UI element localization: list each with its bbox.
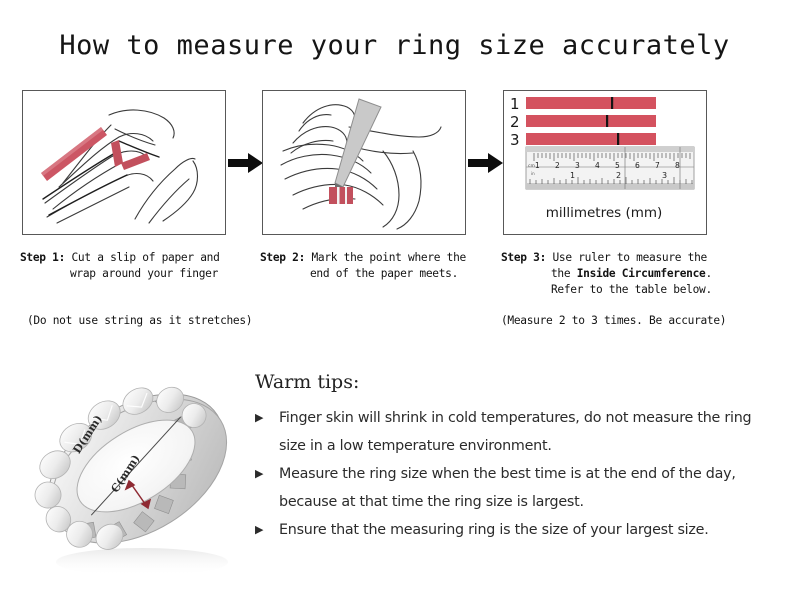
measured-strip-row: 2 bbox=[510, 113, 656, 131]
strip-label-2: 2 bbox=[510, 113, 520, 131]
step-1-caption: Step 1: Cut a slip of paper and wrap aro… bbox=[20, 250, 255, 282]
inch-tick-1: 1 bbox=[570, 171, 575, 180]
step-3-caption: Step 3: Use ruler to measure the the Ins… bbox=[501, 250, 763, 298]
list-item: ▶ Measure the ring size when the best ti… bbox=[255, 460, 775, 516]
cm-tick-6: 6 bbox=[635, 161, 640, 170]
inch-tick-2: 2 bbox=[616, 171, 621, 180]
arrow-step2-to-step3 bbox=[468, 152, 504, 174]
cm-tick-1: 1 bbox=[535, 161, 540, 170]
tip-text: Measure the ring size when the best time… bbox=[279, 466, 736, 510]
inch-unit-mark: in bbox=[531, 171, 535, 176]
step-2-number: Step 2: bbox=[260, 251, 305, 264]
step-3-line2: the Inside Circumference. bbox=[501, 266, 763, 282]
strip-label-1: 1 bbox=[510, 95, 520, 113]
ruler-icon: 1 2 3 4 5 6 7 8 cm 1 2 3 in bbox=[526, 147, 694, 189]
page-title: How to measure your ring size accurately bbox=[0, 30, 789, 61]
step-2-illustration-panel bbox=[262, 90, 466, 235]
list-item: ▶ Ensure that the measuring ring is the … bbox=[255, 516, 775, 544]
triangle-bullet-icon: ▶ bbox=[255, 460, 263, 488]
warm-tips-list: ▶ Finger skin will shrink in cold temper… bbox=[255, 404, 775, 544]
strips-over-ruler-figure: 1 2 3 bbox=[504, 91, 704, 232]
measured-strip-row: 3 bbox=[510, 131, 656, 149]
triangle-bullet-icon: ▶ bbox=[255, 404, 263, 432]
step-3-line2-suffix: . bbox=[705, 267, 711, 280]
tip-text: Ensure that the measuring ring is the si… bbox=[279, 522, 709, 538]
step-1-line1: Cut a slip of paper and bbox=[72, 251, 220, 264]
hand-with-paper-strip-drawing bbox=[23, 91, 223, 232]
step-1-note: (Do not use string as it stretches) bbox=[27, 314, 252, 327]
arrow-step1-to-step2 bbox=[228, 152, 264, 174]
step-3-number: Step 3: bbox=[501, 251, 546, 264]
inch-tick-3: 3 bbox=[662, 171, 667, 180]
cm-tick-7: 7 bbox=[655, 161, 660, 170]
tip-text: Finger skin will shrink in cold temperat… bbox=[279, 410, 751, 454]
ring-photo bbox=[24, 362, 250, 587]
ruler-unit-caption: millimetres (mm) bbox=[546, 205, 663, 221]
step-1-number: Step 1: bbox=[20, 251, 65, 264]
cm-unit-mark: cm bbox=[528, 164, 535, 169]
wrapped-paper-strip bbox=[111, 140, 150, 170]
triangle-bullet-icon: ▶ bbox=[255, 516, 263, 544]
hand-marking-paper-drawing bbox=[263, 91, 463, 232]
ring-dimension-figure bbox=[24, 362, 250, 587]
step-2-caption: Step 2: Mark the point where the end of … bbox=[260, 250, 495, 282]
step-1-line2: wrap around your finger bbox=[20, 266, 255, 282]
list-item: ▶ Finger skin will shrink in cold temper… bbox=[255, 404, 775, 460]
step-1-illustration-panel bbox=[22, 90, 226, 235]
step-3-note: (Measure 2 to 3 times. Be accurate) bbox=[501, 314, 726, 327]
step-3-line3: Refer to the table below. bbox=[501, 282, 763, 298]
cm-tick-5: 5 bbox=[615, 161, 620, 170]
cm-tick-3: 3 bbox=[575, 161, 580, 170]
cm-tick-8: 8 bbox=[675, 161, 680, 170]
cm-tick-2: 2 bbox=[555, 161, 560, 170]
measured-strip-row: 1 bbox=[510, 95, 656, 113]
step-2-line2: end of the paper meets. bbox=[260, 266, 495, 282]
step-2-line1: Mark the point where the bbox=[312, 251, 466, 264]
step-3-line2-prefix: the bbox=[551, 267, 577, 280]
marked-paper-strip bbox=[329, 187, 353, 204]
warm-tips-heading: Warm tips: bbox=[255, 371, 359, 393]
step-3-line1: Use ruler to measure the bbox=[553, 251, 707, 264]
cm-tick-4: 4 bbox=[595, 161, 600, 170]
strip-label-3: 3 bbox=[510, 131, 520, 149]
step-3-emphasis: Inside Circumference bbox=[577, 267, 706, 280]
step-3-illustration-panel: 1 2 3 bbox=[503, 90, 707, 235]
